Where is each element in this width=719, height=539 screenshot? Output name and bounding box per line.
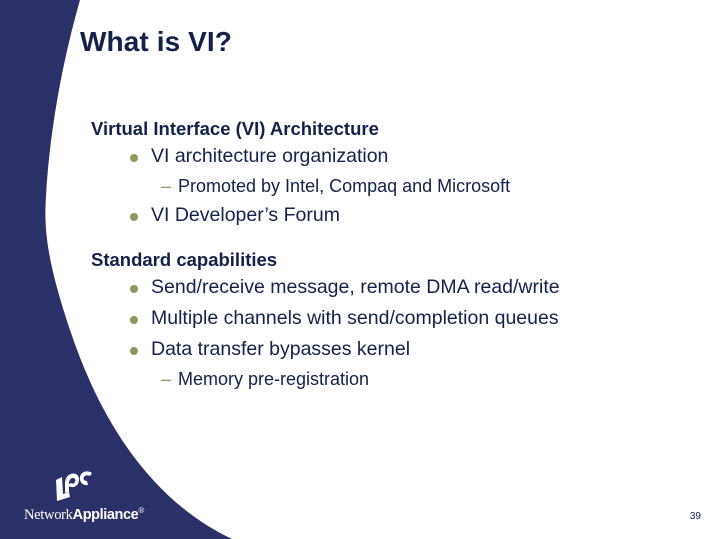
bullet-item: VI architecture organization xyxy=(91,141,691,172)
bullet-text: VI Developer’s Forum xyxy=(151,204,340,226)
bullet-list: Send/receive message, remote DMA read/wr… xyxy=(91,272,691,393)
bullet-item: Data transfer bypasses kernel xyxy=(91,334,691,365)
sub-bullet-text: Memory pre-registration xyxy=(178,369,369,389)
bullet-dot-icon xyxy=(130,213,138,221)
logo-word-network: Network xyxy=(24,507,73,523)
slide-body: Virtual Interface (VI) Architecture VI a… xyxy=(91,117,691,393)
dash-marker-icon: – xyxy=(161,172,171,200)
bullet-dot-icon xyxy=(130,154,138,162)
logo-word-appliance: Appliance xyxy=(73,507,139,523)
bullet-list: VI architecture organization – Promoted … xyxy=(91,141,691,231)
bullet-text: Send/receive message, remote DMA read/wr… xyxy=(151,276,560,298)
dash-marker-icon: – xyxy=(161,365,171,393)
bullet-dot-icon xyxy=(130,285,138,293)
sub-bullet-text: Promoted by Intel, Compaq and Microsoft xyxy=(178,176,510,196)
content-group: Standard capabilities Send/receive messa… xyxy=(91,248,691,393)
netapp-wordmark: NetworkAppliance® xyxy=(24,503,174,523)
bullet-item: Multiple channels with send/completion q… xyxy=(91,303,691,334)
group-heading: Standard capabilities xyxy=(91,248,691,272)
netapp-logo-mark-icon xyxy=(50,470,96,502)
netapp-logo: NetworkAppliance® xyxy=(24,470,174,523)
bullet-item: VI Developer’s Forum xyxy=(91,200,691,231)
bullet-dot-icon xyxy=(130,347,138,355)
bullet-item: Send/receive message, remote DMA read/wr… xyxy=(91,272,691,303)
bullet-dot-icon xyxy=(130,316,138,324)
sub-bullet-item: – Memory pre-registration xyxy=(91,365,691,393)
registered-trademark-symbol: ® xyxy=(138,506,144,515)
content-group: Virtual Interface (VI) Architecture VI a… xyxy=(91,117,691,231)
sub-bullet-item: – Promoted by Intel, Compaq and Microsof… xyxy=(91,172,691,200)
slide-title: What is VI? xyxy=(80,26,232,58)
presentation-slide: What is VI? Virtual Interface (VI) Archi… xyxy=(0,0,719,539)
group-heading: Virtual Interface (VI) Architecture xyxy=(91,117,691,141)
bullet-text: Multiple channels with send/completion q… xyxy=(151,307,559,329)
bullet-text: Data transfer bypasses kernel xyxy=(151,338,410,360)
bullet-text: VI architecture organization xyxy=(151,145,388,167)
page-number: 39 xyxy=(690,511,701,522)
